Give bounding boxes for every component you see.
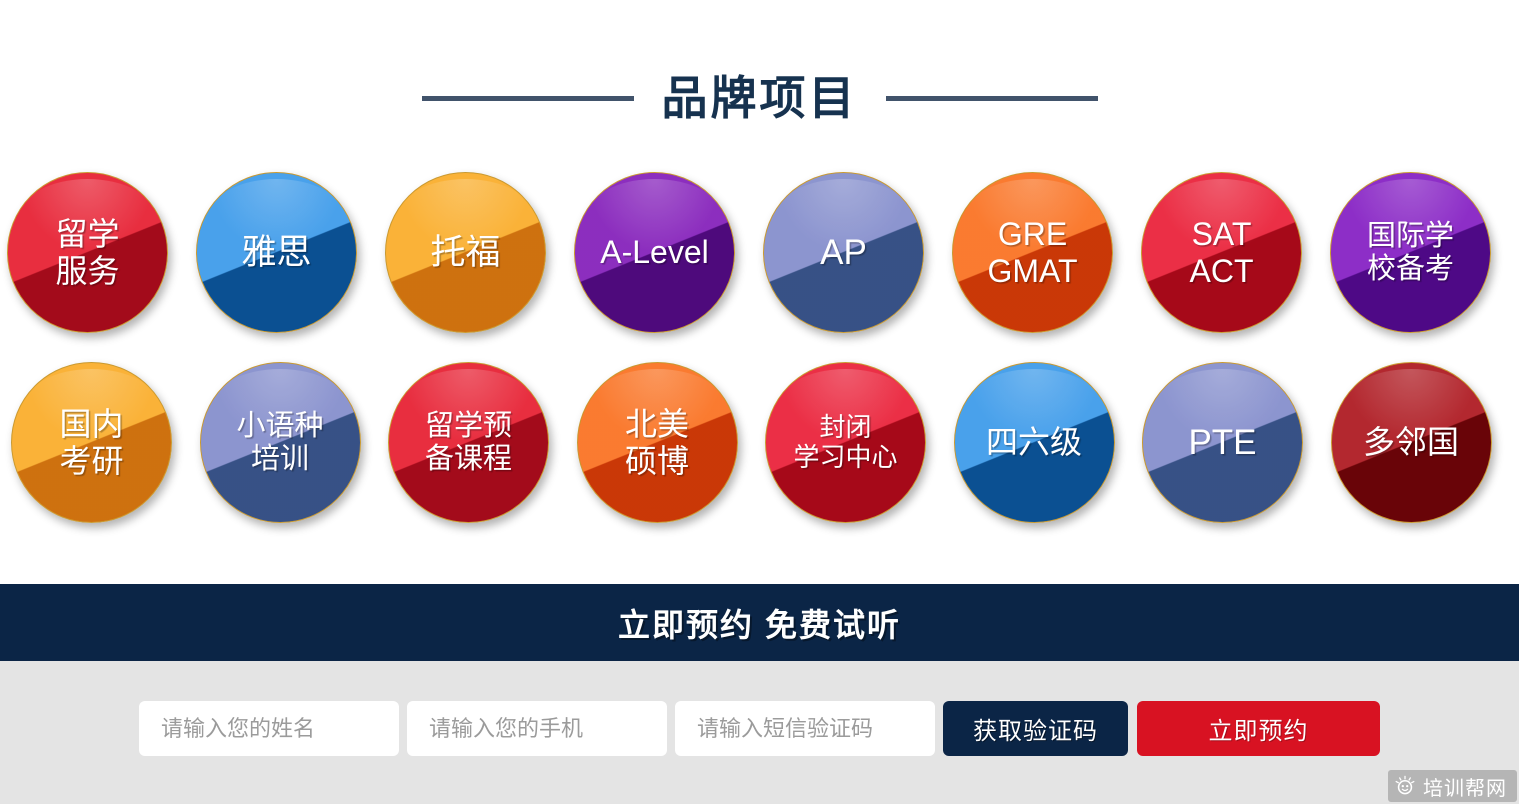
bubble-label: 北美 硕博 [619,406,695,478]
bubble-gre-gmat[interactable]: GRE GMAT [952,172,1113,333]
bubble-guojixuexiao-beikao[interactable]: 国际学 校备考 [1330,172,1491,333]
program-row-1: 留学 服务 雅思 托福 A-Level AP GRE GMAT SAT ACT … [0,172,1519,333]
section-title: 品牌项目 [0,62,1519,134]
bubble-label: AP [814,233,873,273]
get-sms-code-button[interactable]: 获取验证码 [943,701,1128,756]
program-row-2: 国内 考研 小语种 培训 留学预 备课程 北美 硕博 封闭 学习中心 四六级 P… [0,362,1519,523]
bubble-liuxue-fuwu[interactable]: 留学 服务 [7,172,168,333]
bubble-label: 留学 服务 [49,216,125,288]
title-rule-left [422,96,634,101]
bubble-yasi[interactable]: 雅思 [196,172,357,333]
watermark-text: 培训帮网 [1423,772,1507,801]
bubble-label: 封闭 学习中心 [787,413,903,472]
submit-booking-button[interactable]: 立即预约 [1137,701,1380,756]
bubble-liuxue-yubei-kecheng[interactable]: 留学预 备课程 [388,362,549,523]
bubble-tuofu[interactable]: 托福 [385,172,546,333]
bubble-sat-act[interactable]: SAT ACT [1141,172,1302,333]
brand-programs-page: 品牌项目 留学 服务 雅思 托福 A-Level AP GRE GMAT SAT… [0,0,1519,804]
bubble-guonei-kaoyan[interactable]: 国内 考研 [11,362,172,523]
bubble-siliuji[interactable]: 四六级 [954,362,1115,523]
program-grid: 留学 服务 雅思 托福 A-Level AP GRE GMAT SAT ACT … [0,172,1519,523]
bubble-label: PTE [1182,423,1262,463]
bubble-pte[interactable]: PTE [1142,362,1303,523]
name-input[interactable] [139,701,399,756]
bubble-label: 留学预 备课程 [419,410,518,476]
sms-code-input[interactable] [675,701,935,756]
booking-form: 获取验证码 立即预约 [139,701,1380,756]
bubble-label: 国际学 校备考 [1361,220,1460,286]
bubble-duolinguo[interactable]: 多邻国 [1331,362,1492,523]
site-watermark: 培训帮网 [1388,770,1517,802]
get-sms-code-label: 获取验证码 [973,711,1098,746]
bubble-label: 国内 考研 [53,406,129,478]
page-title: 品牌项目 [662,75,858,121]
booking-form-section: 获取验证码 立即预约 [0,661,1519,804]
cta-banner: 立即预约 免费试听 [0,584,1519,661]
bubble-fengbi-xuexi-zhongxin[interactable]: 封闭 学习中心 [765,362,926,523]
bubble-label: 雅思 [235,233,317,273]
title-rule-right [886,96,1098,101]
bubble-label: A-Level [594,234,715,270]
sun-face-icon [1394,775,1416,797]
bubble-ap[interactable]: AP [763,172,924,333]
bubble-label: 小语种 培训 [230,410,329,476]
phone-input[interactable] [407,701,667,756]
bubble-label: 多邻国 [1357,424,1465,460]
bubble-xiaoyuzhong-peixun[interactable]: 小语种 培训 [200,362,361,523]
submit-booking-label: 立即预约 [1209,711,1309,746]
bubble-label: 四六级 [980,424,1088,460]
bubble-label: SAT ACT [1184,216,1260,288]
bubble-beimei-shuobo[interactable]: 北美 硕博 [577,362,738,523]
cta-banner-text: 立即预约 免费试听 [618,600,901,646]
bubble-label: 托福 [424,233,506,273]
bubble-a-level[interactable]: A-Level [574,172,735,333]
bubble-label: GRE GMAT [981,216,1083,288]
